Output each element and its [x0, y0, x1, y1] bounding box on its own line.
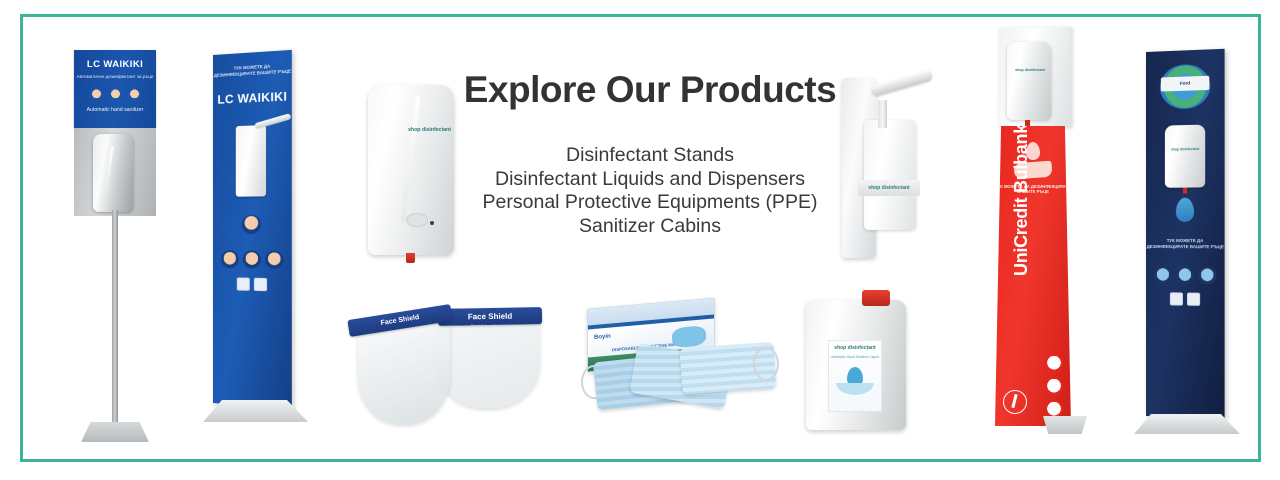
product-category-item: Sanitizer Cabins: [420, 215, 880, 239]
hand-rub-icon: [1176, 266, 1194, 284]
hand-clean-icon: [1198, 266, 1216, 284]
symbol-badge-row: [213, 277, 292, 292]
hand-drop-icon: [221, 250, 239, 268]
dispenser-pump: [878, 100, 887, 128]
hand-clean-icon: [128, 88, 141, 101]
product-category-item: Personal Protective Equipments (PPE): [420, 191, 880, 215]
unicredit-logo-icon: [1003, 390, 1027, 414]
tissue-icon: [1170, 292, 1183, 305]
face-shield-visor: [358, 320, 450, 424]
sanitizer-dispenser-unit: shop disinfectant: [1165, 125, 1205, 188]
dispenser-highlight: [400, 95, 421, 223]
hand-sanitizing-icons: [74, 88, 156, 101]
totem-board: ТУК МОЖЕТЕ ДА ДЕЗИНФЕКЦИРАТЕ ВАШИТЕ РЪЦЕ…: [213, 50, 292, 408]
product-category-item: Disinfectant Liquids and Dispensers: [420, 168, 880, 192]
dispenser-brand-label: shop disinfectant: [1013, 68, 1047, 72]
product-navy-branded-stand: Ford shop disinfectant ТУК МОЖЕТЕ ДА ДЕЗ…: [1130, 52, 1250, 452]
product-disposable-masks: Boyin DISPOSABLE PROTECTIVE MASK: [575, 295, 780, 440]
jerrycan-label: shop disinfectant Antiseptic Hand Saniti…: [828, 340, 882, 412]
mask-ear-loop: [753, 347, 779, 381]
water-drop-icon: [1176, 198, 1194, 222]
lc-waikiki-cyrillic-text: Автоматичен дезинфектант за ръце: [74, 74, 156, 80]
mask-box-brand-label: Boyin: [594, 334, 611, 341]
elbow-lever-arm: [870, 69, 933, 97]
water-splash-icon: [833, 383, 877, 397]
jerrycan-body: shop disinfectant Antiseptic Hand Saniti…: [806, 300, 906, 430]
jerrycan-sub-label: Antiseptic Hand Sanitizer Liquid: [829, 355, 881, 359]
mask-illustration-icon: [672, 325, 706, 348]
stand-base-plate: [81, 422, 149, 442]
symbol-badge-row: [1146, 292, 1225, 306]
hand-drop-icon: [1154, 266, 1172, 284]
product-category-item: Disinfectant Stands: [420, 144, 880, 168]
navy-cyrillic-text: ТУК МОЖЕТЕ ДА ДЕЗИНФЕКЦИРАТЕ ВАШИТЕ РЪЦЕ: [1146, 238, 1225, 249]
hand-wash-icon-column: [1045, 354, 1063, 418]
product-face-shields: Face Shield Direct Splash Protection Fac…: [340, 298, 540, 438]
product-unicredit-bulbank-stand: shop disinfectant ТУК МОЖЕТЕ ДА ДЕЗИНФЕК…: [975, 28, 1095, 448]
dispenser-brand-label: shop disinfectant: [408, 127, 454, 133]
hand-wash-icon-row: [213, 250, 292, 269]
sanitizer-dispenser-unit: [93, 134, 133, 212]
tissue-icon: [237, 277, 250, 290]
dispenser-brand-label: shop disinfectant: [1169, 147, 1201, 152]
brand-ribbon: Ford: [1161, 76, 1209, 92]
jerrycan-cap: [862, 290, 890, 306]
page-title: Explore Our Products: [440, 70, 860, 110]
hand-clean-icon: [265, 250, 283, 269]
product-lc-waikiki-totem-stand: ТУК МОЖЕТЕ ДА ДЕЗИНФЕКЦИРАТЕ ВАШИТЕ РЪЦЕ…: [193, 55, 318, 435]
hand-drop-icon: [90, 88, 103, 101]
hand-drop-icon: [242, 215, 261, 234]
promotional-banner: LC WAIKIKI Автоматичен дезинфектант за р…: [0, 0, 1280, 480]
hand-clean-icon: [1045, 400, 1063, 418]
hand-drop-icon: [1045, 354, 1063, 372]
totem-brand-label: LC WAIKIKI: [213, 89, 292, 107]
hand-wash-icon-row: [1146, 266, 1225, 285]
hand-rub-icon: [243, 250, 261, 268]
lc-waikiki-brand-label: LC WAIKIKI: [74, 59, 156, 70]
hand-rub-icon: [1045, 377, 1063, 395]
product-lc-waikiki-pole-stand: LC WAIKIKI Автоматичен дезинфектант за р…: [60, 50, 170, 435]
virus-icon: [254, 278, 267, 292]
stand-base-plate: [1043, 416, 1087, 434]
totem-cyrillic-text: ТУК МОЖЕТЕ ДА ДЕЗИНФЕКЦИРАТЕ ВАШИТЕ РЪЦЕ: [213, 62, 292, 78]
virus-icon: [1187, 293, 1200, 306]
lc-waikiki-sign: LC WAIKIKI Автоматичен дезинфектант за р…: [74, 50, 156, 128]
elbow-lever-arm: [254, 113, 291, 129]
dispenser-nozzle: [1183, 188, 1187, 194]
product-category-list: Disinfectant Stands Disinfectant Liquids…: [420, 144, 880, 238]
hand-rub-icon: [109, 88, 122, 101]
sanitizer-dispenser-unit: shop disinfectant: [1007, 42, 1051, 120]
dispenser-nozzle: [1025, 120, 1030, 127]
elbow-dispenser-unit: [236, 125, 266, 197]
product-sanitizer-jerrycan: shop disinfectant Antiseptic Hand Saniti…: [800, 288, 920, 440]
dispenser-nozzle: [406, 253, 415, 263]
unicredit-cyrillic-text: ТУК МОЖЕТЕ ДА ДЕЗИНФЕКЦИРАТЕ ВАШИТЕ РЪЦЕ: [995, 184, 1071, 194]
jerrycan-brand-label: shop disinfectant: [829, 345, 881, 351]
face-shield-band-sublabel: Direct Splash Protection: [438, 324, 542, 328]
stand-pole: [112, 210, 118, 425]
navy-logo-label: Ford: [1161, 76, 1209, 92]
unicredit-board: ТУК МОЖЕТЕ ДА ДЕЗИНФЕКЦИРАТЕ ВАШИТЕ РЪЦЕ…: [995, 126, 1071, 426]
lc-waikiki-caption: Automatic hand sanitizer: [74, 107, 156, 114]
navy-board: Ford shop disinfectant ТУК МОЖЕТЕ ДА ДЕЗ…: [1146, 49, 1225, 419]
